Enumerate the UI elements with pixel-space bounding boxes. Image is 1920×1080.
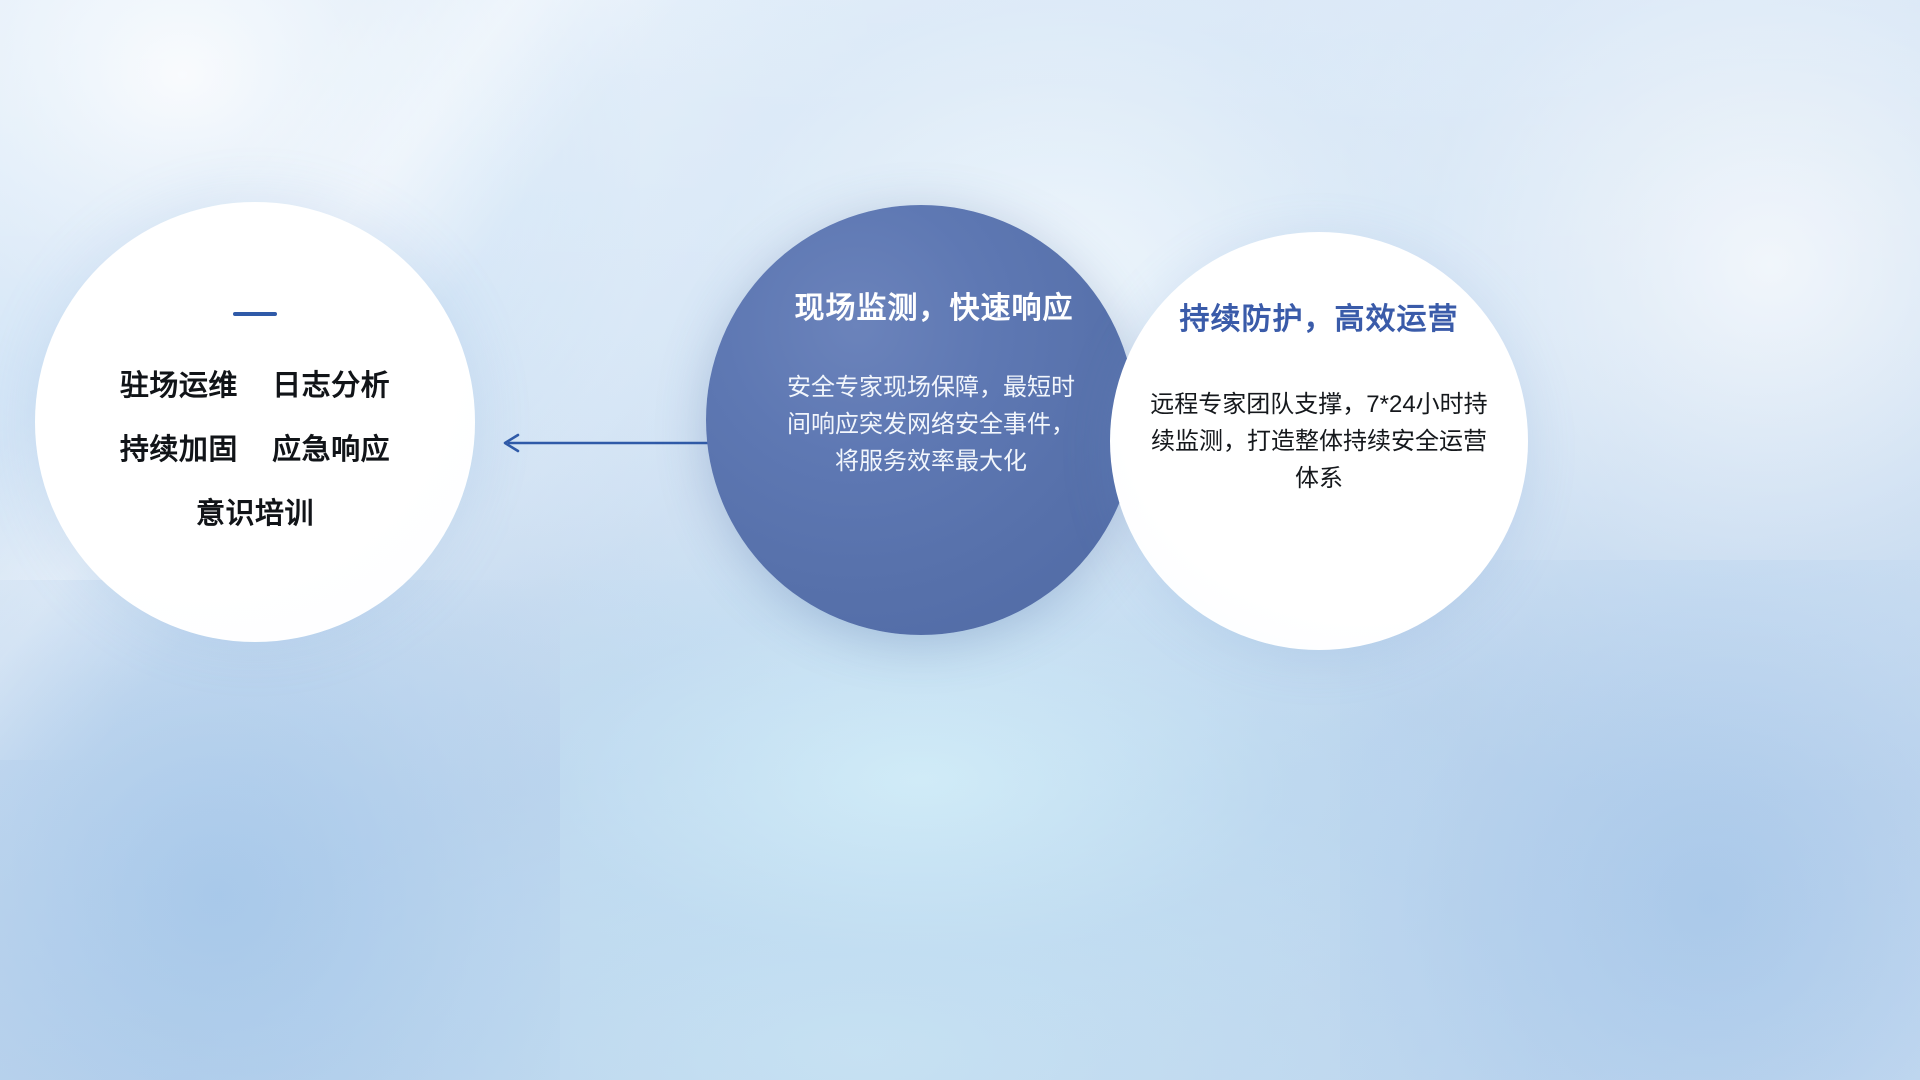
continuous-protection-circle: 持续防护，高效运营 远程专家团队支撑，7*24小时持续监测，打造整体持续安全运营… (1110, 232, 1528, 650)
service-capability-circle: 驻场运维 日志分析 持续加固 应急响应 意识培训 (35, 202, 475, 642)
onsite-monitoring-circle: 现场监测，快速响应 安全专家现场保障，最短时间响应突发网络安全事件，将服务效率最… (706, 205, 1136, 635)
capability-line-1: 驻场运维 日志分析 (120, 362, 390, 404)
capability-line-2: 持续加固 应急响应 (120, 426, 390, 468)
continuous-protection-body: 远程专家团队支撑，7*24小时持续监测，打造整体持续安全运营体系 (1145, 386, 1493, 498)
capability-line-3: 意识培训 (196, 490, 314, 532)
onsite-monitoring-body: 安全专家现场保障，最短时间响应突发网络安全事件，将服务效率最大化 (781, 369, 1081, 481)
capability-list: 驻场运维 日志分析 持续加固 应急响应 意识培训 (120, 362, 390, 532)
onsite-monitoring-title: 现场监测，快速响应 (795, 283, 1074, 327)
continuous-protection-title: 持续防护，高效运营 (1180, 294, 1459, 338)
accent-dash-divider (233, 312, 277, 316)
arrow-connector (494, 430, 709, 456)
